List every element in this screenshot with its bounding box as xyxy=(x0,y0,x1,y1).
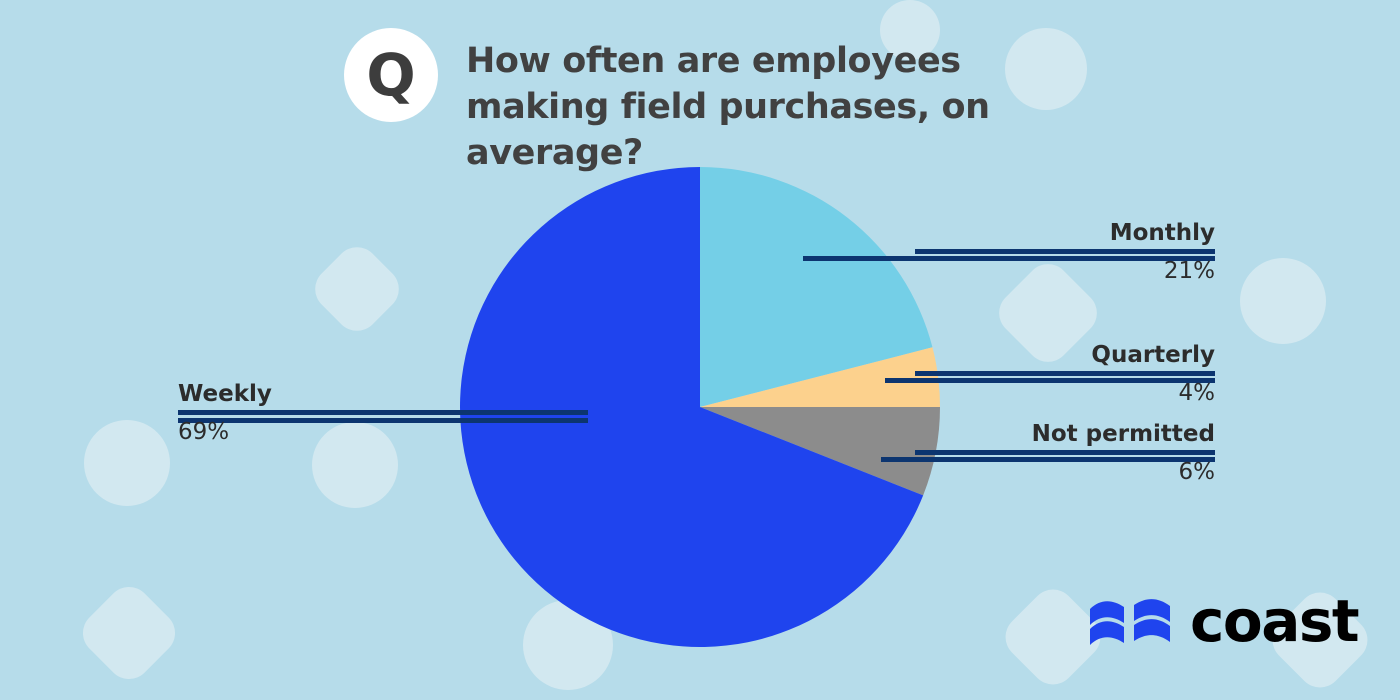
header: Q How often are employees making field p… xyxy=(344,28,1066,177)
callout-not-permitted-label: Not permitted xyxy=(915,422,1215,447)
pie-chart xyxy=(460,167,940,647)
callout-quarterly-rule xyxy=(915,371,1215,376)
callout-weekly: Weekly 69% xyxy=(178,382,478,448)
callout-not-permitted-rule xyxy=(915,450,1215,455)
callout-quarterly-label: Quarterly xyxy=(915,343,1215,368)
callout-not-permitted: Not permitted 6% xyxy=(915,422,1215,488)
decor-diamond xyxy=(306,238,408,340)
decor-circle xyxy=(1240,258,1326,344)
decor-diamond xyxy=(74,578,184,688)
coast-wordmark: coast xyxy=(1190,592,1358,650)
callout-monthly-label: Monthly xyxy=(915,221,1215,246)
question-badge-letter: Q xyxy=(366,46,415,104)
callout-monthly-rule xyxy=(915,249,1215,254)
infographic-canvas: Q How often are employees making field p… xyxy=(0,0,1400,700)
callout-not-permitted-value: 6% xyxy=(915,457,1215,488)
callout-weekly-label: Weekly xyxy=(178,382,478,407)
question-badge: Q xyxy=(344,28,438,122)
callout-weekly-value: 69% xyxy=(178,417,478,448)
coast-logo[interactable]: coast xyxy=(1090,592,1358,650)
page-title: How often are employees making field pur… xyxy=(466,38,1066,177)
callout-monthly-value: 21% xyxy=(915,256,1215,287)
callout-weekly-rule xyxy=(178,410,588,415)
callout-quarterly-value: 4% xyxy=(915,378,1215,409)
pie-chart-svg xyxy=(460,167,940,647)
decor-circle xyxy=(84,420,170,506)
callout-quarterly: Quarterly 4% xyxy=(915,343,1215,409)
callout-monthly: Monthly 21% xyxy=(915,221,1215,287)
coast-waves-icon xyxy=(1090,593,1176,649)
